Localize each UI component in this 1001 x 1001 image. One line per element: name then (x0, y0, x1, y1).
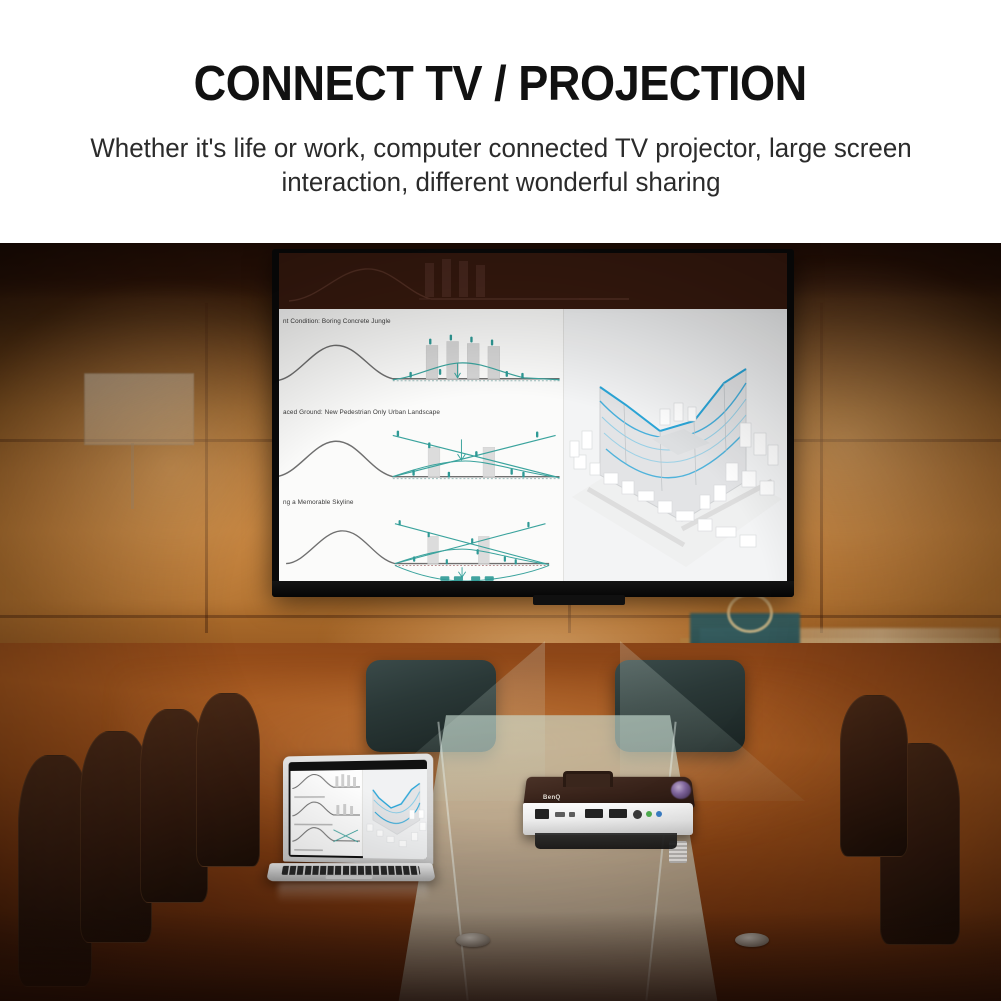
scene-photo: nt Condition: Boring Concrete Jungle ace… (0, 243, 1001, 1001)
laptop-reflection (278, 883, 428, 903)
table-grommet-right (735, 933, 769, 947)
product-banner: CONNECT TV / PROJECTION Whether it's lif… (0, 0, 1001, 1001)
chair-near-4 (196, 693, 260, 867)
projector-lens (671, 781, 691, 799)
projection-screen: nt Condition: Boring Concrete Jungle ace… (272, 249, 794, 597)
projector-port-vga (585, 809, 603, 818)
page-title: CONNECT TV / PROJECTION (194, 58, 807, 111)
projector-port-audio (656, 811, 662, 817)
projector-body (523, 803, 693, 835)
projector-port (535, 809, 549, 819)
diagram-label-3: ng a Memorable Skyline (283, 499, 353, 506)
diagram-3 (279, 511, 563, 581)
laptop-slide-diagrams (290, 770, 361, 856)
chair-right-2 (840, 695, 908, 857)
lamp-ring (727, 593, 773, 633)
projector: BenQ (521, 769, 697, 861)
projector-handle (563, 771, 613, 787)
slide: nt Condition: Boring Concrete Jungle ace… (279, 309, 787, 581)
laptop-render (363, 769, 427, 859)
screen-dimmed-strip (279, 253, 787, 309)
laptop-screen (289, 760, 427, 860)
slide-diagrams-panel: nt Condition: Boring Concrete Jungle ace… (279, 309, 563, 581)
projector-port-vga (609, 809, 627, 818)
diagram-1 (279, 329, 563, 407)
page-subtitle: Whether it's life or work, computer conn… (78, 131, 923, 200)
laptop-diagrams (290, 770, 361, 859)
laptop-keyboard (282, 866, 421, 875)
whiteboard-stand (131, 443, 134, 509)
diagram-label-1: nt Condition: Boring Concrete Jungle (283, 318, 391, 325)
whiteboard (84, 373, 194, 445)
projector-port-audio (646, 811, 652, 817)
projector-port (555, 812, 565, 817)
screen-surface: nt Condition: Boring Concrete Jungle ace… (279, 253, 787, 581)
projector-base (535, 833, 677, 849)
laptop-trackpad (326, 876, 373, 880)
projector-port-audio (633, 810, 642, 819)
slide-render-panel (563, 309, 787, 581)
laptop-lid (283, 753, 433, 864)
laptop (268, 755, 434, 905)
urban-massing-render (564, 313, 787, 581)
table-grommet-left (456, 933, 490, 947)
laptop-base (266, 863, 436, 881)
screen-stand (533, 595, 625, 605)
diagram-2 (279, 421, 563, 499)
projector-brand-label: BenQ (543, 795, 561, 801)
dimmed-diagram (279, 253, 787, 309)
laptop-slide-render (362, 769, 427, 857)
laptop-slide (290, 769, 424, 857)
header: CONNECT TV / PROJECTION Whether it's lif… (0, 0, 1001, 243)
diagram-label-2: aced Ground: New Pedestrian Only Urban L… (283, 409, 440, 416)
projector-port (569, 812, 575, 817)
